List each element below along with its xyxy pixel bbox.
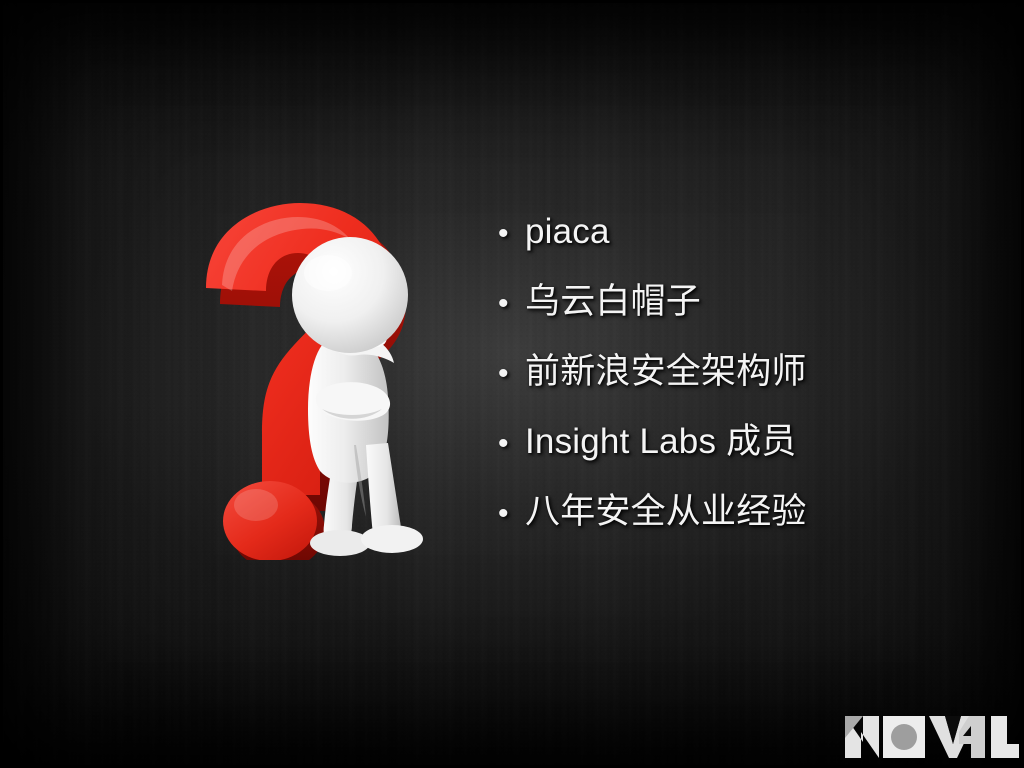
bullet-text: 前新浪安全架构师 — [525, 352, 807, 392]
thinking-figure-icon — [170, 195, 460, 560]
bullet-marker-icon: • — [498, 289, 525, 319]
bullet-marker-icon: • — [498, 359, 525, 389]
slide-canvas: • piaca • 乌云白帽子 • 前新浪安全架构师 • Insight Lab… — [0, 0, 1024, 768]
now4l-logo-icon — [843, 714, 1019, 760]
question-mark-illustration — [170, 195, 460, 560]
bullet-marker-icon: • — [498, 219, 525, 249]
thinking-figure — [292, 237, 423, 556]
figure-head — [292, 237, 408, 353]
bullet-text: Insight Labs 成员 — [525, 422, 796, 462]
list-item: • 八年安全从业经验 — [498, 492, 998, 562]
list-item: • Insight Labs 成员 — [498, 422, 998, 492]
bullet-text: piaca — [525, 212, 610, 252]
brand-logo — [843, 714, 1019, 760]
bullet-marker-icon: • — [498, 499, 525, 529]
list-item: • 前新浪安全架构师 — [498, 352, 998, 422]
list-item: • piaca — [498, 212, 998, 282]
bullet-list: • piaca • 乌云白帽子 • 前新浪安全架构师 • Insight Lab… — [498, 212, 998, 562]
list-item: • 乌云白帽子 — [498, 282, 998, 352]
bullet-text: 八年安全从业经验 — [525, 492, 807, 532]
bullet-marker-icon: • — [498, 429, 525, 459]
bullet-text: 乌云白帽子 — [525, 282, 701, 322]
